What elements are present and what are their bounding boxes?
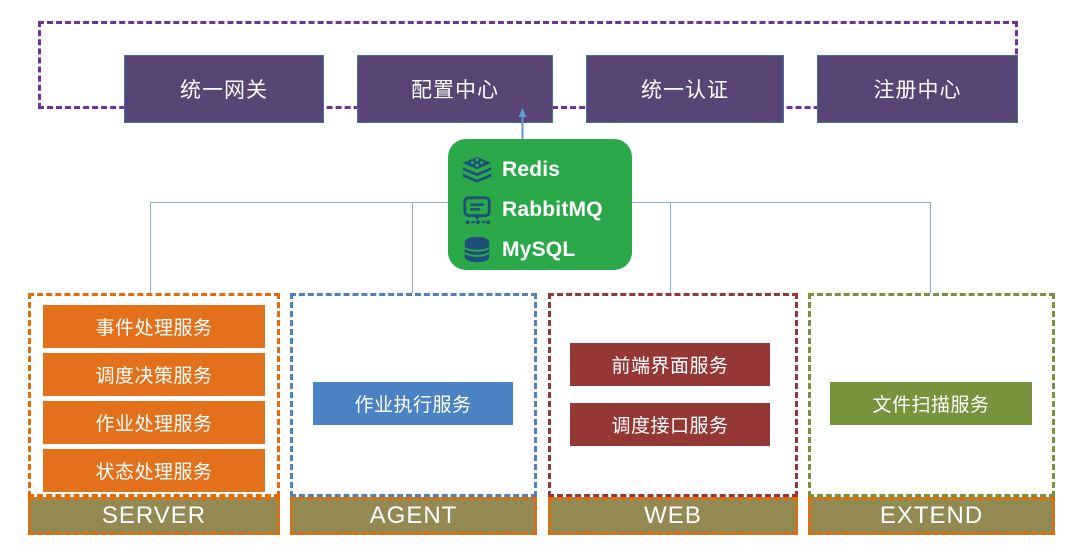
service-box-schedule-api[interactable]: 调度接口服务 <box>570 403 770 446</box>
redis-layers-icon <box>462 155 492 185</box>
architecture-diagram: 统一网关 配置中心 统一认证 注册中心 <box>0 0 1080 545</box>
mysql-database-icon <box>462 235 492 265</box>
module-footer-label: AGENT <box>370 502 458 530</box>
module-footer-label: SERVER <box>102 502 206 530</box>
module-footer-web: WEB <box>548 497 798 535</box>
service-box-schedule-decision[interactable]: 调度决策服务 <box>43 353 265 396</box>
middleware-item-mysql: MySQL <box>462 233 632 267</box>
middleware-item-redis: Redis <box>462 153 632 187</box>
service-box-label: 状态处理服务 <box>95 457 212 484</box>
gateway-box-unified-auth[interactable]: 统一认证 <box>586 55 784 123</box>
module-footer-extend: EXTEND <box>808 497 1055 535</box>
arrow-up-icon <box>518 108 527 142</box>
gateway-box-unified-gateway[interactable]: 统一网关 <box>124 55 324 123</box>
gateway-box-label: 统一网关 <box>180 74 268 104</box>
module-footer-label: EXTEND <box>880 502 983 530</box>
connector-vertical-web <box>670 202 671 294</box>
service-box-job-processing[interactable]: 作业处理服务 <box>43 401 265 444</box>
middleware-container[interactable]: Redis RabbitMQ <box>448 139 632 270</box>
middleware-item-rabbitmq: RabbitMQ <box>462 193 632 227</box>
service-box-label: 作业处理服务 <box>95 409 212 436</box>
module-container-web <box>548 293 798 497</box>
service-box-job-execution[interactable]: 作业执行服务 <box>313 382 513 425</box>
rabbitmq-message-icon <box>462 195 492 225</box>
middleware-item-label: MySQL <box>502 238 575 262</box>
service-box-frontend-ui[interactable]: 前端界面服务 <box>570 343 770 386</box>
gateway-box-registry-center[interactable]: 注册中心 <box>817 55 1018 123</box>
service-box-file-scan[interactable]: 文件扫描服务 <box>830 382 1032 425</box>
connector-vertical-extend <box>930 202 931 294</box>
service-box-status-processing[interactable]: 状态处理服务 <box>43 449 265 492</box>
middleware-item-label: Redis <box>502 158 560 182</box>
service-box-label: 事件处理服务 <box>95 313 212 340</box>
service-box-label: 文件扫描服务 <box>872 390 989 417</box>
service-box-label: 作业执行服务 <box>354 390 471 417</box>
gateway-group-container: 统一网关 配置中心 统一认证 注册中心 <box>38 21 1018 109</box>
gateway-box-label: 配置中心 <box>411 74 499 104</box>
service-box-label: 前端界面服务 <box>611 351 728 378</box>
module-footer-label: WEB <box>644 502 702 530</box>
connector-vertical-server <box>150 202 151 294</box>
gateway-box-label: 统一认证 <box>641 74 729 104</box>
connector-vertical-agent <box>412 202 413 294</box>
service-box-event-processing[interactable]: 事件处理服务 <box>43 305 265 348</box>
module-footer-agent: AGENT <box>290 497 537 535</box>
module-footer-server: SERVER <box>28 497 280 535</box>
service-box-label: 调度决策服务 <box>95 361 212 388</box>
gateway-box-label: 注册中心 <box>874 74 962 104</box>
middleware-item-label: RabbitMQ <box>502 198 603 222</box>
service-box-label: 调度接口服务 <box>611 411 728 438</box>
